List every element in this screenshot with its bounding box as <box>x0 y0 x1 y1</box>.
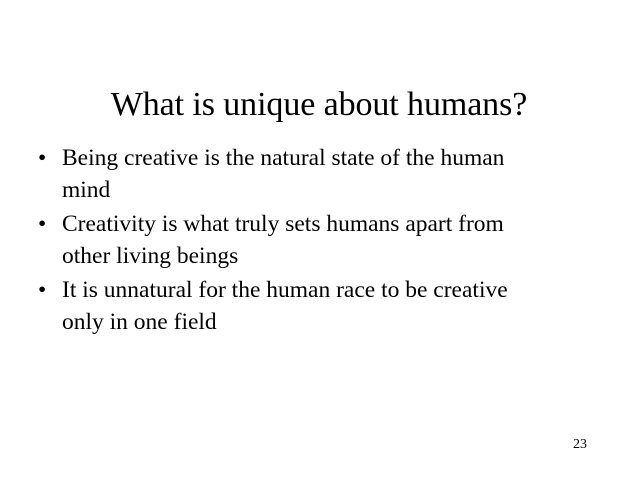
bullet-point-icon: • <box>38 275 56 307</box>
list-item-text: Being creative is the natural state of t… <box>62 143 554 206</box>
bullet-list: • Being creative is the natural state of… <box>34 143 554 341</box>
bullet-point-icon: • <box>38 143 56 175</box>
list-item-text: It is unnatural for the human race to be… <box>62 275 554 338</box>
page-number: 23 <box>573 437 587 453</box>
list-item-text: Creativity is what truly sets humans apa… <box>62 209 554 272</box>
bullet-point-icon: • <box>38 209 56 241</box>
list-item: • Being creative is the natural state of… <box>34 143 554 206</box>
list-item: • It is unnatural for the human race to … <box>34 275 554 338</box>
presentation-slide: What is unique about humans? • Being cre… <box>0 0 638 479</box>
page-title: What is unique about humans? <box>0 85 638 125</box>
list-item: • Creativity is what truly sets humans a… <box>34 209 554 272</box>
